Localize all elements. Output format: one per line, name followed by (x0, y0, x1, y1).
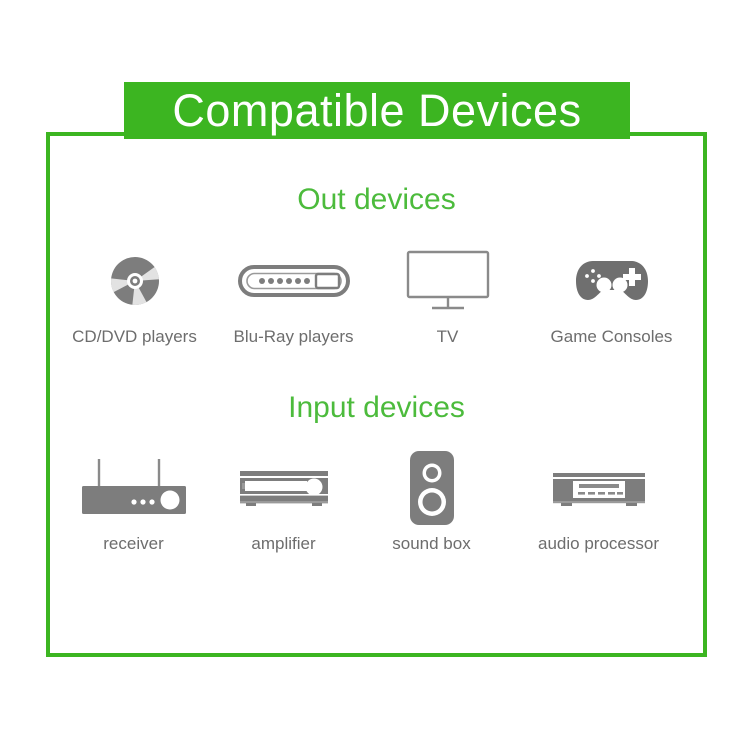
device-label: amplifier (251, 535, 315, 552)
device-cell-audio-processor: audio processor (504, 449, 694, 552)
device-label: Game Consoles (551, 328, 673, 345)
content-area: Out devices (50, 136, 703, 653)
device-cell-sound-box: sound box (360, 449, 504, 552)
device-label: CD/DVD players (72, 328, 197, 345)
amplifier-icon (238, 449, 330, 527)
device-label: sound box (392, 535, 470, 552)
input-devices-row: receiver ampl (50, 449, 703, 552)
tv-monitor-icon (406, 242, 490, 320)
speaker-icon (406, 449, 458, 527)
device-label: TV (437, 328, 459, 345)
out-devices-row: CD/DVD players (50, 242, 703, 345)
gamepad-icon (573, 242, 651, 320)
audio-processor-icon (551, 449, 647, 527)
device-cell-cd-dvd-players: CD/DVD players (54, 242, 216, 345)
compatible-devices-infographic: Compatible Devices Out devices (0, 0, 750, 750)
device-label: Blu-Ray players (234, 328, 354, 345)
device-cell-tv: TV (372, 242, 524, 345)
device-label: audio processor (538, 535, 659, 552)
page-title: Compatible Devices (172, 88, 581, 133)
device-label: receiver (103, 535, 163, 552)
device-cell-receiver: receiver (60, 449, 208, 552)
section-heading-out-devices: Out devices (50, 185, 703, 215)
device-cell-game-consoles: Game Consoles (524, 242, 700, 345)
cd-dvd-disc-icon (106, 242, 164, 320)
blu-ray-player-icon (238, 242, 350, 320)
title-banner: Compatible Devices (124, 82, 630, 139)
device-cell-amplifier: amplifier (208, 449, 360, 552)
section-heading-input-devices: Input devices (50, 393, 703, 423)
device-cell-blu-ray-players: Blu-Ray players (216, 242, 372, 345)
av-receiver-icon (76, 449, 192, 527)
